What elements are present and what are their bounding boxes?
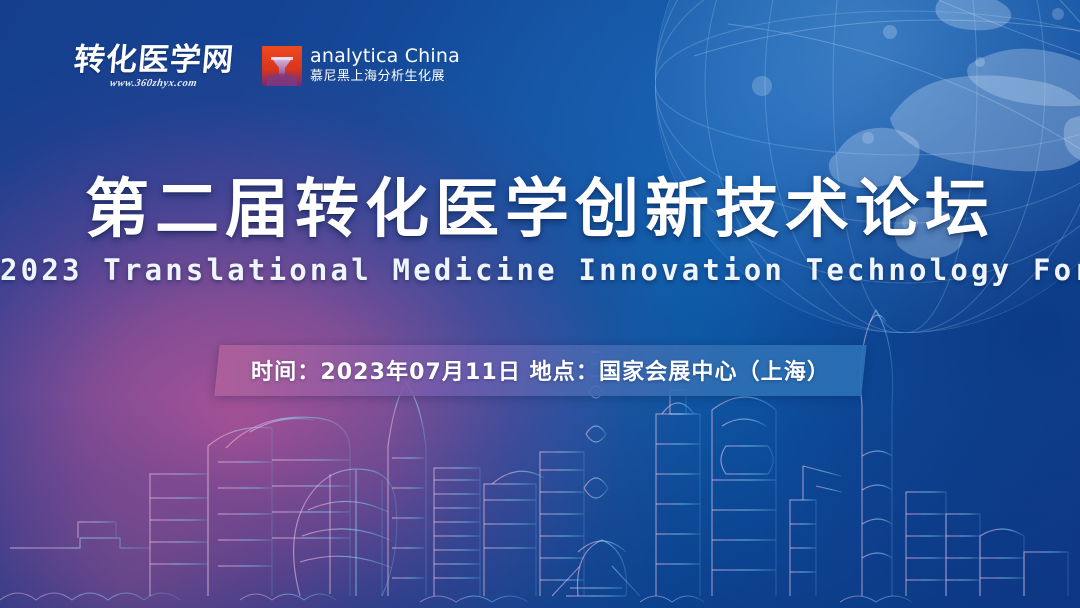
title-block: 第二届转化医学创新技术论坛 2023 Translational Medicin… xyxy=(0,176,1080,287)
right-vignette xyxy=(460,0,1080,608)
shanghai-skyline-graphic xyxy=(0,248,1080,608)
funnel-mark-icon xyxy=(262,46,302,86)
analytica-china-logo[interactable]: analytica China 慕尼黑上海分析生化展 xyxy=(262,46,460,86)
event-info-text: 时间：2023年07月11日 地点：国家会展中心（上海） xyxy=(251,354,830,386)
analytica-china-en: analytica China xyxy=(310,46,460,68)
info-bar-wrap: 时间：2023年07月11日 地点：国家会展中心（上海） xyxy=(0,345,1080,396)
event-info-bar: 时间：2023年07月11日 地点：国家会展中心（上海） xyxy=(214,345,866,396)
analytica-china-cn: 慕尼黑上海分析生化展 xyxy=(310,69,460,86)
conference-banner: 转化医学网 www.360zhyx.com xyxy=(0,0,1080,608)
page-title: 第二届转化医学创新技术论坛 xyxy=(0,176,1080,245)
page-subtitle: 2023 Translational Medicine Innovation T… xyxy=(0,253,1080,287)
magenta-glow xyxy=(0,0,810,608)
bottom-shade xyxy=(0,398,1080,608)
transmed-logo-url: www.360zhyx.com xyxy=(109,78,198,89)
transmed-logo[interactable]: 转化医学网 www.360zhyx.com xyxy=(74,44,234,89)
transmed-logo-cn: 转化医学网 xyxy=(73,44,236,77)
logo-row: 转化医学网 www.360zhyx.com xyxy=(74,44,460,89)
magenta-glow-inner xyxy=(0,248,500,608)
